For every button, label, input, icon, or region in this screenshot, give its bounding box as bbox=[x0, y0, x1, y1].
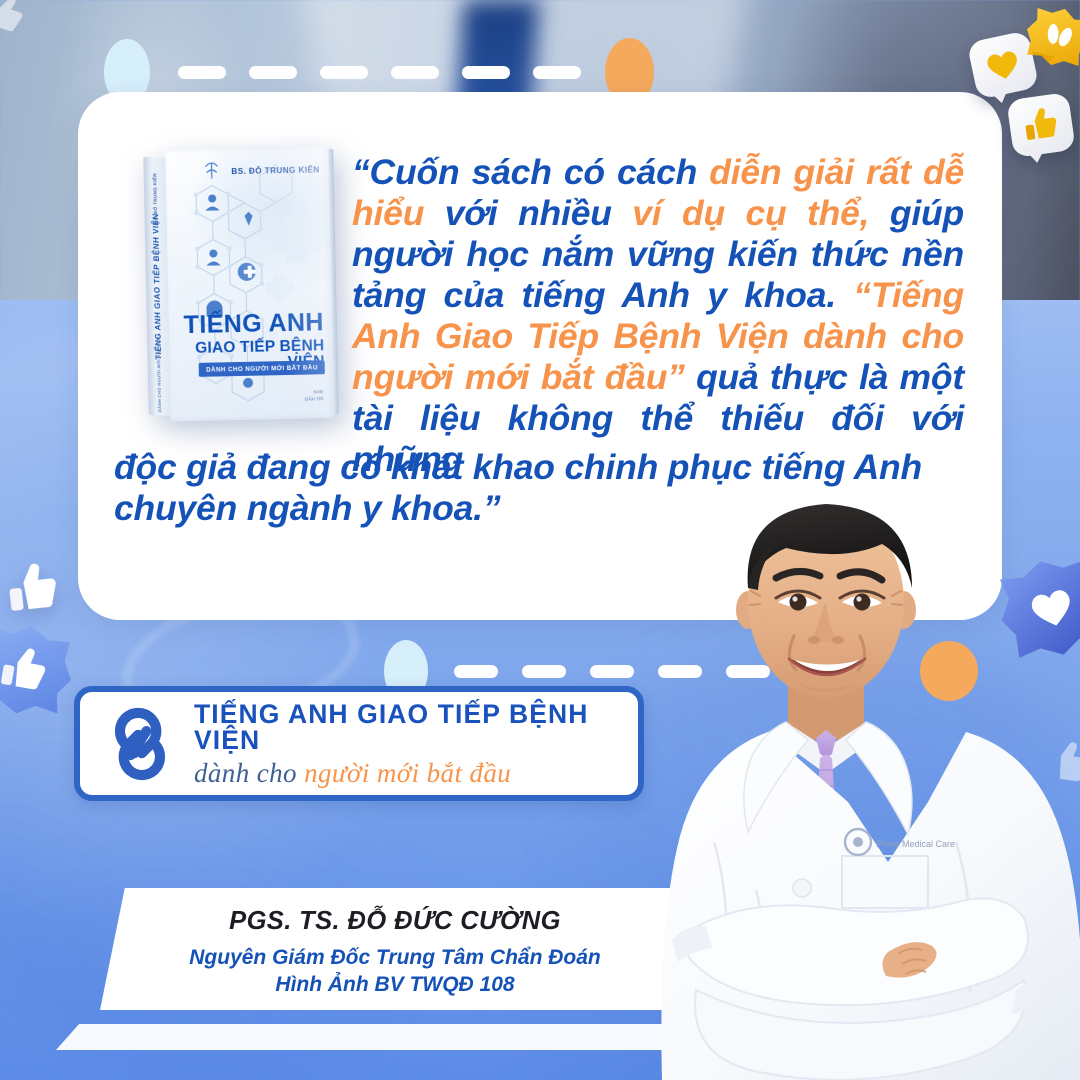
thumbs-up-white-icon bbox=[1041, 737, 1080, 794]
decor-dash bbox=[462, 66, 510, 79]
quote-paragraph: “Cuốn sách có cách diễn giải rất dễ hiểu… bbox=[352, 152, 964, 480]
decor-dash bbox=[533, 66, 581, 79]
brand-banner-texts: TIẾNG ANH GIAO TIẾP BỆNH VIỆN dành cho n… bbox=[194, 701, 638, 787]
decor-dash bbox=[522, 665, 566, 678]
speaker-role-line2: Hình Ảnh BV TWQĐ 108 bbox=[100, 972, 690, 999]
speaker-role: Nguyên Giám Đốc Trung Tâm Chẩn Đoán Hình… bbox=[100, 945, 690, 998]
brand-title: TIẾNG ANH GIAO TIẾP BỆNH VIỆN bbox=[194, 701, 638, 754]
chain-link-icon bbox=[94, 698, 186, 790]
thumbs-up-bubble-white-icon bbox=[1006, 92, 1075, 158]
decor-dash bbox=[391, 66, 439, 79]
doctor-portrait: Prime Medical Care bbox=[636, 470, 1080, 1080]
name-plate-accent-stripe bbox=[56, 1024, 696, 1050]
quote-segment-3: ví dụ cụ thể, bbox=[632, 193, 869, 233]
brand-banner[interactable]: TIẾNG ANH GIAO TIẾP BỆNH VIỆN dành cho n… bbox=[74, 686, 644, 801]
book-title-line1: TIẾNG ANH bbox=[169, 310, 324, 338]
brand-subtitle-highlight: người mới bắt đầu bbox=[304, 758, 511, 788]
svg-text:Prime Medical Care: Prime Medical Care bbox=[876, 839, 955, 849]
quote-segment-2: với nhiều bbox=[424, 193, 632, 233]
speaker-role-line1: Nguyên Giám Đốc Trung Tâm Chẩn Đoán bbox=[100, 945, 690, 972]
book-publisher: NXBDÂN TRÍ bbox=[305, 389, 324, 402]
book-hex-network-pattern bbox=[165, 146, 335, 421]
book-cover: BS. ĐỖ TRUNG KIÊN TIẾNG ANH GIAO TIẾP BỆ… bbox=[143, 146, 335, 422]
poster-canvas: BS. ĐỖ TRUNG KIÊN TIẾNG ANH GIAO TIẾP BỆ… bbox=[0, 0, 1080, 1080]
quote-segment-0: “Cuốn sách có cách bbox=[352, 152, 709, 192]
decor-dash bbox=[178, 66, 226, 79]
book-subtitle-badge: DÀNH CHO NGƯỜI MỚI BẮT ĐẦU bbox=[199, 360, 325, 377]
decor-dash bbox=[249, 66, 297, 79]
decor-dash bbox=[590, 665, 634, 678]
speaker-name: PGS. TS. ĐỖ ĐỨC CƯỜNG bbox=[100, 907, 690, 936]
brand-subtitle-plain: dành cho bbox=[194, 758, 304, 788]
speaker-name-plate: PGS. TS. ĐỖ ĐỨC CƯỜNG Nguyên Giám Đốc Tr… bbox=[100, 888, 690, 1010]
book-front-face: BS. ĐỖ TRUNG KIÊN TIẾNG ANH GIAO TIẾP BỆ… bbox=[165, 146, 335, 421]
decor-dash bbox=[454, 665, 498, 678]
thumbs-up-white-icon bbox=[3, 559, 63, 623]
brand-subtitle: dành cho người mới bắt đầu bbox=[194, 760, 638, 787]
decor-dash bbox=[320, 66, 368, 79]
